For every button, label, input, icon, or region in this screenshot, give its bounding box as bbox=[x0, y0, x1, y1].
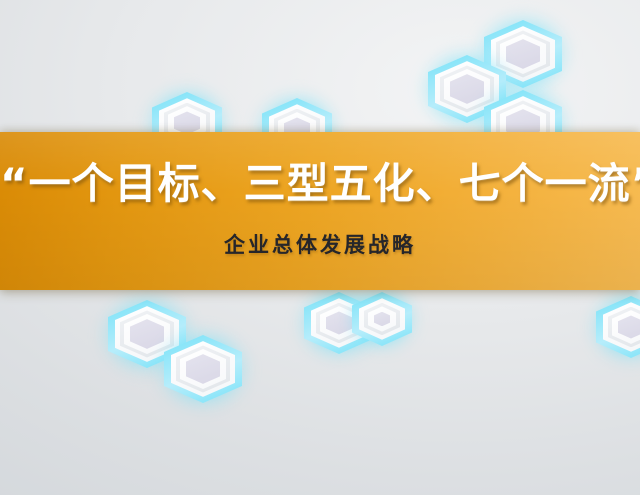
title-banner: “一个目标、三型五化、七个一流” 企业总体发展战略 bbox=[0, 132, 640, 290]
slide-canvas: “一个目标、三型五化、七个一流” 企业总体发展战略 bbox=[0, 0, 640, 495]
banner-sheen-overlay bbox=[0, 132, 640, 290]
slide-title: “一个目标、三型五化、七个一流” bbox=[0, 162, 640, 206]
glowing-hexagon bbox=[596, 296, 640, 358]
glowing-hexagon bbox=[352, 292, 412, 346]
glowing-hexagon bbox=[164, 335, 242, 403]
slide-subtitle: 企业总体发展战略 bbox=[0, 229, 640, 259]
